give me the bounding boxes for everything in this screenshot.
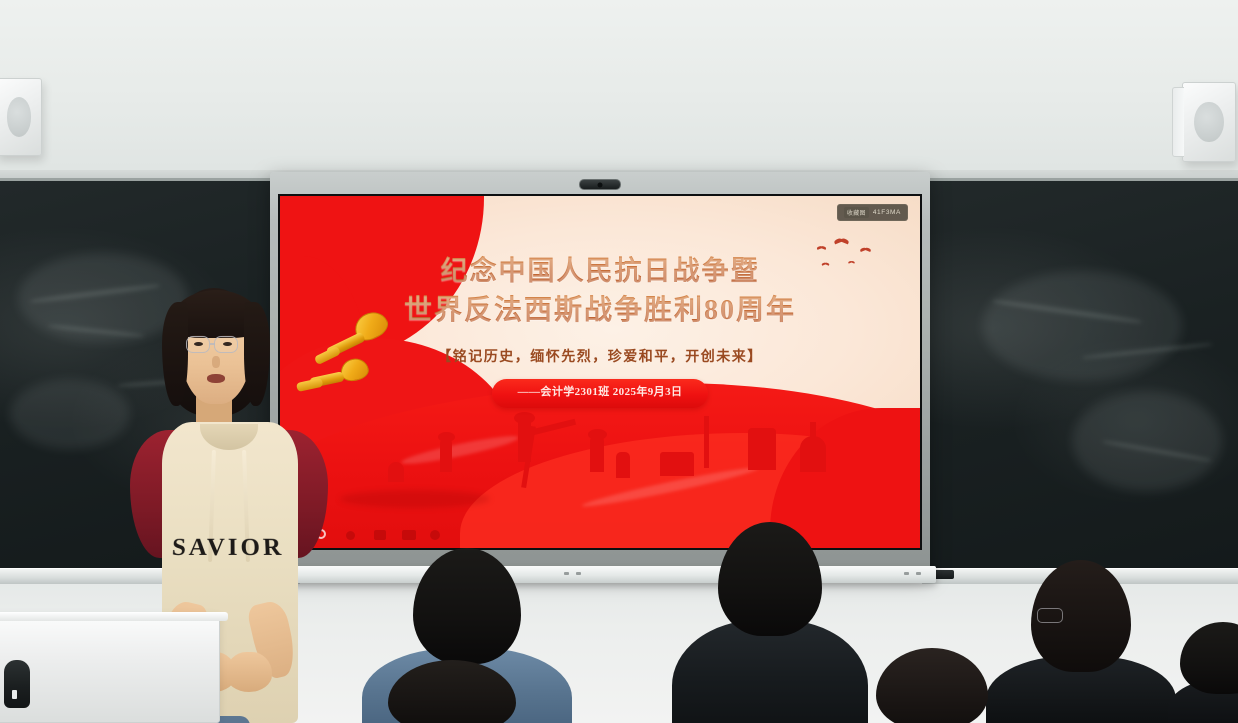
audience-member (672, 522, 868, 723)
chalk-smudge (1072, 391, 1222, 491)
eyeglasses-icon (1037, 608, 1063, 623)
building-silhouette (748, 428, 776, 470)
podium-microphone-icon[interactable] (4, 660, 30, 708)
presenter-mouth (207, 374, 225, 383)
wave-shadow (340, 490, 490, 508)
eyeglasses-icon (214, 336, 238, 353)
audience-member (1168, 622, 1238, 723)
antenna-silhouette (704, 416, 709, 468)
eyeglasses-icon (186, 336, 210, 353)
audience-head (413, 548, 521, 664)
classroom-wall-upper (0, 0, 1238, 180)
audience-member (852, 648, 1012, 723)
soundbar-vent (576, 572, 581, 575)
building-silhouette (660, 452, 694, 476)
slide-title-line-1: 纪念中国人民抗日战争暨 (280, 252, 920, 291)
presenter-nose (212, 356, 220, 368)
audience-head (1180, 622, 1238, 694)
classroom-scene: 收藏图 41F3MA 纪念中国人民抗日战争暨 世界反法西斯战争胜利80周年 【铭… (0, 0, 1238, 723)
panel-camera-icon (579, 179, 621, 190)
lectern-top (0, 612, 228, 621)
screen-dot-glyph (430, 530, 440, 540)
soundbar-vent (916, 572, 921, 575)
presenter-hand-right (226, 652, 272, 692)
soldier-silhouette (616, 452, 630, 478)
eyeglasses-bridge (210, 343, 215, 345)
watermark-id-label: 41F3MA (873, 209, 901, 216)
watermark-chip-label: 收藏图 (844, 207, 869, 218)
hoodie-graphic-text: SAVIOR (116, 534, 339, 561)
slide-title-line-2: 世界反法西斯战争胜利80周年 (280, 291, 920, 332)
soldier-head (514, 412, 535, 424)
slide-attribution-badge: ——会计学2301班 2025年9月3日 (492, 379, 708, 408)
presentation-screen[interactable]: 收藏图 41F3MA 纪念中国人民抗日战争暨 世界反法西斯战争胜利80周年 【铭… (278, 194, 922, 550)
soldier-head (588, 429, 607, 440)
screen-dot-glyph (374, 530, 386, 540)
slide-subtitle: 【铭记历史，缅怀先烈，珍爱和平，开创未来】 (280, 346, 920, 366)
soldier-silhouette (440, 438, 452, 472)
audience-head (718, 522, 822, 636)
screen-dot-glyph (402, 530, 416, 540)
speaker-cone (7, 97, 32, 137)
slide-watermark-badge: 收藏图 41F3MA (837, 204, 908, 221)
chalk-smudge (982, 271, 1182, 381)
presenter-hair-side-right (244, 302, 270, 406)
wall-speaker-right-icon (1182, 82, 1236, 162)
audience-head (1031, 560, 1131, 672)
wall-speaker-left-icon (0, 78, 42, 156)
interactive-flat-panel[interactable]: 收藏图 41F3MA 纪念中国人民抗日战争暨 世界反法西斯战争胜利80周年 【铭… (270, 172, 930, 574)
speaker-cone (1194, 102, 1223, 143)
blackboard-right (922, 178, 1238, 568)
soldier-silhouette (388, 462, 404, 482)
soldier-head (438, 432, 455, 442)
presenter-hair-side-left (162, 302, 188, 406)
audience-head (876, 648, 988, 723)
lectern[interactable] (0, 617, 220, 723)
soldier-silhouette (590, 436, 604, 472)
tower-silhouette (800, 436, 826, 472)
audience-member (352, 660, 552, 723)
dove-icon (834, 239, 849, 247)
tower-spire (810, 422, 816, 440)
audience-head (388, 660, 516, 723)
speaker-side-panel (1172, 87, 1184, 157)
dove-icon (817, 246, 826, 251)
slide-text-block: 纪念中国人民抗日战争暨 世界反法西斯战争胜利80周年 【铭记历史，缅怀先烈，珍爱… (280, 252, 920, 408)
audience-member (986, 560, 1176, 723)
soundbar-vent (904, 572, 909, 575)
